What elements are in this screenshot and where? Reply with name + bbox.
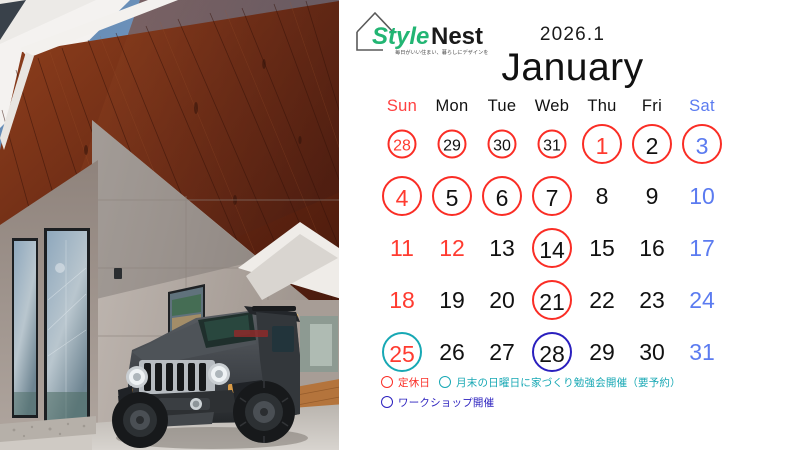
calendar-day-2[interactable]: 2 bbox=[632, 124, 672, 164]
calendar-cell[interactable]: 30 bbox=[627, 326, 677, 378]
calendar-day-7[interactable]: 7 bbox=[532, 176, 572, 216]
calendar-day-30[interactable]: 30 bbox=[632, 332, 672, 372]
dow-sat: Sat bbox=[677, 94, 727, 118]
dow-tue: Tue bbox=[477, 94, 527, 118]
calendar-cell[interactable]: 29 bbox=[577, 326, 627, 378]
calendar-day-29[interactable]: 29 bbox=[438, 130, 467, 159]
calendar-week-row: 28293031123 bbox=[377, 118, 777, 170]
legend-row-1: 定休日 月末の日曜日に家づくり勉強会開催（要予約） bbox=[381, 372, 800, 392]
calendar-day-26[interactable]: 26 bbox=[432, 332, 472, 372]
house-photo bbox=[0, 0, 345, 450]
calendar-cell[interactable]: 26 bbox=[427, 326, 477, 378]
calendar-day-3[interactable]: 3 bbox=[682, 124, 722, 164]
calendar-day-6[interactable]: 6 bbox=[482, 176, 522, 216]
calendar-cell[interactable]: 28 bbox=[527, 326, 577, 378]
calendar-day-30[interactable]: 30 bbox=[488, 130, 517, 159]
legend-item-workshop: ワークショップ開催 bbox=[381, 395, 494, 410]
calendar-cell[interactable]: 6 bbox=[477, 170, 527, 222]
calendar-cell[interactable]: 23 bbox=[627, 274, 677, 326]
calendar-day-28[interactable]: 28 bbox=[388, 130, 417, 159]
dow-fri: Fri bbox=[627, 94, 677, 118]
calendar-day-29[interactable]: 29 bbox=[582, 332, 622, 372]
legend-row-2: ワークショップ開催 bbox=[381, 392, 800, 412]
calendar-cell[interactable]: 27 bbox=[477, 326, 527, 378]
calendar-cell[interactable]: 2 bbox=[627, 118, 677, 170]
calendar-cell[interactable]: 18 bbox=[377, 274, 427, 326]
legend-label-workshop: ワークショップ開催 bbox=[398, 395, 494, 410]
calendar-week-row: 11121314151617 bbox=[377, 222, 777, 274]
calendar-day-11[interactable]: 11 bbox=[382, 228, 422, 268]
calendar-cell[interactable]: 8 bbox=[577, 170, 627, 222]
calendar-day-18[interactable]: 18 bbox=[382, 280, 422, 320]
calendar-week-row: 45678910 bbox=[377, 170, 777, 222]
calendar-day-19[interactable]: 19 bbox=[432, 280, 472, 320]
legend-label-closed-day: 定休日 bbox=[398, 375, 430, 390]
calendar-cell[interactable]: 16 bbox=[627, 222, 677, 274]
calendar-cell[interactable]: 19 bbox=[427, 274, 477, 326]
calendar-cell[interactable]: 7 bbox=[527, 170, 577, 222]
calendar-cell[interactable]: 11 bbox=[377, 222, 427, 274]
calendar-panel: Style Nest 毎日がいい住まい、暮らしにデザインを 2026.1 Jan… bbox=[345, 0, 800, 450]
legend-circle-navy-icon bbox=[381, 396, 393, 408]
legend-circle-teal-icon bbox=[439, 376, 451, 388]
calendar-day-24[interactable]: 24 bbox=[682, 280, 722, 320]
calendar-cell[interactable]: 17 bbox=[677, 222, 727, 274]
calendar-cell[interactable]: 31 bbox=[677, 326, 727, 378]
calendar-cell[interactable]: 14 bbox=[527, 222, 577, 274]
year-month-label: 2026.1 bbox=[345, 24, 800, 46]
calendar-weeks: 2829303112345678910111213141516171819202… bbox=[377, 118, 777, 378]
calendar-day-1[interactable]: 1 bbox=[582, 124, 622, 164]
calendar-day-5[interactable]: 5 bbox=[432, 176, 472, 216]
calendar-day-27[interactable]: 27 bbox=[482, 332, 522, 372]
calendar-day-25[interactable]: 25 bbox=[382, 332, 422, 372]
legend-label-study-meeting: 月末の日曜日に家づくり勉強会開催（要予約） bbox=[456, 375, 681, 390]
calendar-day-9[interactable]: 9 bbox=[632, 176, 672, 216]
calendar-day-4[interactable]: 4 bbox=[382, 176, 422, 216]
calendar-cell[interactable]: 22 bbox=[577, 274, 627, 326]
calendar-cell[interactable]: 20 bbox=[477, 274, 527, 326]
calendar-cell[interactable]: 4 bbox=[377, 170, 427, 222]
calendar-day-12[interactable]: 12 bbox=[432, 228, 472, 268]
legend-item-closed-day: 定休日 bbox=[381, 375, 430, 390]
calendar-page: Style Nest 毎日がいい住まい、暮らしにデザインを 2026.1 Jan… bbox=[0, 0, 800, 450]
calendar-grid: Sun Mon Tue Web Thu Fri Sat 282930311234… bbox=[377, 94, 777, 378]
legend-circle-red-icon bbox=[381, 376, 393, 388]
day-of-week-header-row: Sun Mon Tue Web Thu Fri Sat bbox=[377, 94, 777, 118]
calendar-cell[interactable]: 15 bbox=[577, 222, 627, 274]
calendar-day-23[interactable]: 23 bbox=[632, 280, 672, 320]
calendar-day-17[interactable]: 17 bbox=[682, 228, 722, 268]
calendar-cell[interactable]: 30 bbox=[477, 118, 527, 170]
calendar-cell[interactable]: 10 bbox=[677, 170, 727, 222]
calendar-cell[interactable]: 21 bbox=[527, 274, 577, 326]
calendar-legend: 定休日 月末の日曜日に家づくり勉強会開催（要予約） ワークショップ開催 bbox=[381, 372, 800, 412]
calendar-cell[interactable]: 3 bbox=[677, 118, 727, 170]
legend-item-study-meeting: 月末の日曜日に家づくり勉強会開催（要予約） bbox=[439, 375, 681, 390]
calendar-day-13[interactable]: 13 bbox=[482, 228, 522, 268]
dow-thu: Thu bbox=[577, 94, 627, 118]
calendar-cell[interactable]: 28 bbox=[377, 118, 427, 170]
calendar-day-31[interactable]: 31 bbox=[538, 130, 567, 159]
calendar-week-row: 18192021222324 bbox=[377, 274, 777, 326]
calendar-day-22[interactable]: 22 bbox=[582, 280, 622, 320]
calendar-cell[interactable]: 9 bbox=[627, 170, 677, 222]
dow-wed: Web bbox=[527, 94, 577, 118]
calendar-day-8[interactable]: 8 bbox=[582, 176, 622, 216]
calendar-day-28[interactable]: 28 bbox=[532, 332, 572, 372]
dow-sun: Sun bbox=[377, 94, 427, 118]
calendar-week-row: 25262728293031 bbox=[377, 326, 777, 378]
calendar-cell[interactable]: 5 bbox=[427, 170, 477, 222]
calendar-day-21[interactable]: 21 bbox=[532, 280, 572, 320]
calendar-cell[interactable]: 24 bbox=[677, 274, 727, 326]
dow-mon: Mon bbox=[427, 94, 477, 118]
calendar-day-31[interactable]: 31 bbox=[682, 332, 722, 372]
calendar-cell[interactable]: 1 bbox=[577, 118, 627, 170]
calendar-cell[interactable]: 25 bbox=[377, 326, 427, 378]
calendar-day-20[interactable]: 20 bbox=[482, 280, 522, 320]
calendar-day-14[interactable]: 14 bbox=[532, 228, 572, 268]
calendar-cell[interactable]: 31 bbox=[527, 118, 577, 170]
calendar-cell[interactable]: 12 bbox=[427, 222, 477, 274]
calendar-cell[interactable]: 29 bbox=[427, 118, 477, 170]
month-name-title: January bbox=[345, 46, 800, 90]
calendar-cell[interactable]: 13 bbox=[477, 222, 527, 274]
calendar-day-10[interactable]: 10 bbox=[682, 176, 722, 216]
calendar-day-16[interactable]: 16 bbox=[632, 228, 672, 268]
calendar-day-15[interactable]: 15 bbox=[582, 228, 622, 268]
